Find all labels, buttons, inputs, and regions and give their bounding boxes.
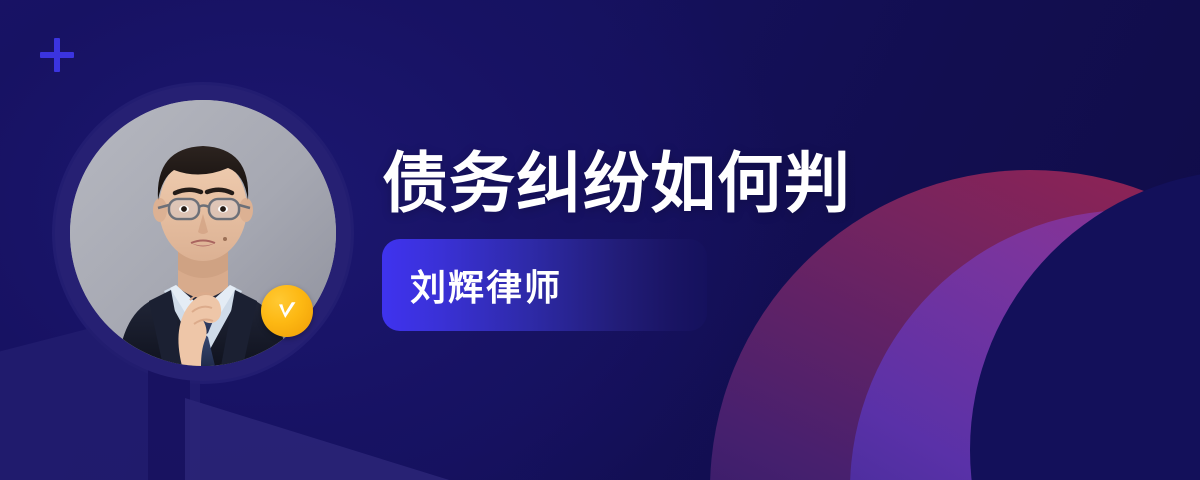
- page-title: 债务纠纷如何判: [382, 150, 1082, 217]
- plus-icon: [40, 38, 74, 72]
- verified-badge-icon: [261, 285, 313, 337]
- lawyer-profile-banner: 债务纠纷如何判 刘辉律师: [0, 0, 1200, 480]
- lawyer-name-chip[interactable]: 刘辉律师: [382, 239, 707, 331]
- banner-content: 债务纠纷如何判 刘辉律师: [382, 150, 1082, 331]
- lawyer-name-label: 刘辉律师: [410, 259, 562, 311]
- decorative-triangle-bottom: [185, 398, 475, 480]
- avatar: [55, 85, 351, 381]
